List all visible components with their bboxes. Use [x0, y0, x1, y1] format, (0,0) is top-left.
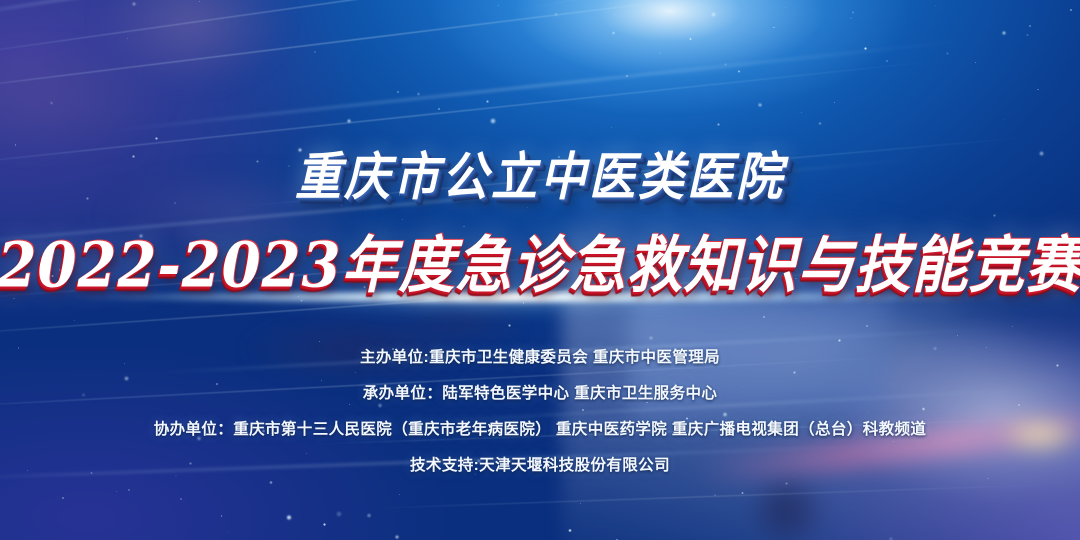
poster-title-sub: 2022-2023年度急诊急救知识与技能竞赛	[0, 216, 1080, 305]
poster-content: 重庆市公立中医类医院 2022-2023年度急诊急救知识与技能竞赛 主办单位:重…	[0, 0, 1080, 540]
credit-line: 技术支持:天津天堰科技股份有限公司	[410, 453, 670, 475]
credit-line: 主办单位:重庆市卫生健康委员会 重庆市中医管理局	[360, 345, 720, 367]
credit-line: 承办单位：陆军特色医学中心 重庆市卫生服务中心	[363, 381, 718, 403]
credits-block: 主办单位:重庆市卫生健康委员会 重庆市中医管理局承办单位：陆军特色医学中心 重庆…	[154, 345, 927, 475]
credit-line: 协办单位：重庆市第十三人民医院（重庆市老年病医院） 重庆中医药学院 重庆广播电视…	[154, 417, 927, 439]
poster-canvas: 重庆市公立中医类医院 2022-2023年度急诊急救知识与技能竞赛 主办单位:重…	[0, 0, 1080, 540]
poster-title-main: 重庆市公立中医类医院	[295, 136, 785, 210]
